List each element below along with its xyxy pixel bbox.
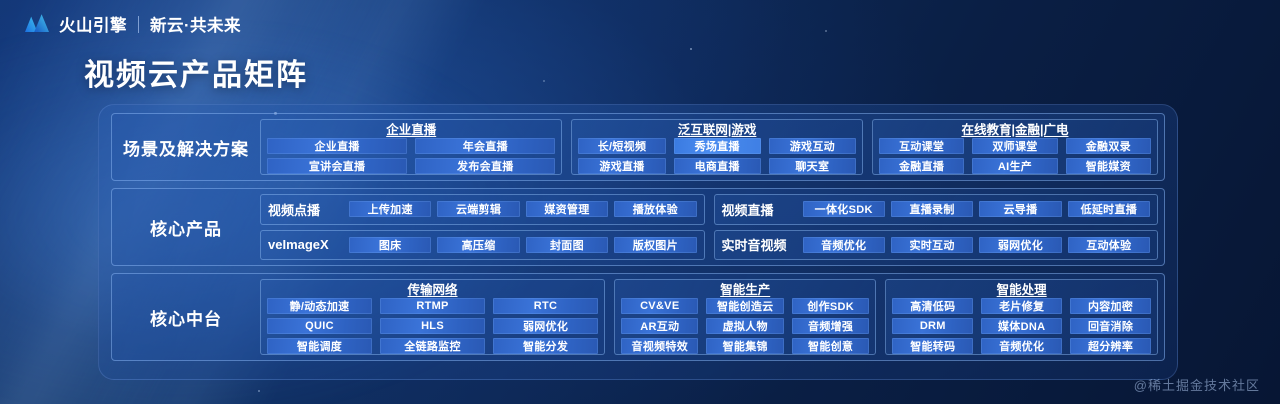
product-group: 企业直播企业直播年会直播宣讲会直播发布会直播 (260, 119, 562, 175)
product-group: 泛互联网|游戏长/短视频秀场直播游戏互动游戏直播电商直播聊天室 (571, 119, 863, 175)
brand-slogan: 新云·共未来 (150, 12, 241, 36)
product-chip[interactable]: 老片修复 (981, 298, 1062, 314)
chip-grid: 高清低码老片修复内容加密DRM媒体DNA回音消除智能转码音频优化超分辨率 (892, 298, 1151, 354)
product-chip[interactable]: 企业直播 (267, 138, 407, 154)
group-title: 泛互联网|游戏 (578, 122, 856, 138)
product-chip[interactable]: 高清低码 (892, 298, 973, 314)
product-chip[interactable]: 智能调度 (267, 338, 372, 354)
product-chip[interactable]: 弱网优化 (979, 237, 1061, 253)
star-particle (258, 390, 260, 392)
product-chip[interactable]: 上传加速 (349, 201, 431, 217)
product-chip[interactable]: 超分辨率 (1070, 338, 1151, 354)
product-line: 实时音视频音频优化实时互动弱网优化互动体验 (714, 230, 1159, 261)
product-matrix-panel: 场景及解决方案企业直播企业直播年会直播宣讲会直播发布会直播泛互联网|游戏长/短视… (98, 104, 1178, 380)
product-chip[interactable]: 游戏直播 (578, 158, 665, 174)
group-title: 传输网络 (267, 282, 598, 298)
chip-grid: 图床高压缩封面图版权图片 (349, 237, 697, 253)
product-chip[interactable]: 音频优化 (981, 338, 1062, 354)
product-name: 视频点播 (268, 200, 342, 219)
product-chip[interactable]: 长/短视频 (578, 138, 665, 154)
product-chip[interactable]: 游戏互动 (769, 138, 856, 154)
product-chip[interactable]: 低延时直播 (1068, 201, 1150, 217)
product-chip[interactable]: 互动课堂 (879, 138, 964, 154)
chip-grid: 静/动态加速RTMPRTCQUICHLS弱网优化智能调度全链路监控智能分发 (267, 298, 598, 354)
product-chip[interactable]: RTMP (380, 298, 485, 314)
row-content: 企业直播企业直播年会直播宣讲会直播发布会直播泛互联网|游戏长/短视频秀场直播游戏… (260, 119, 1158, 175)
product-chip[interactable]: 云导播 (979, 201, 1061, 217)
product-chip[interactable]: 静/动态加速 (267, 298, 372, 314)
product-chip[interactable]: 封面图 (526, 237, 608, 253)
product-chip[interactable]: 秀场直播 (674, 138, 761, 154)
group-title: 在线教育|金融|广电 (879, 122, 1151, 138)
product-chip[interactable]: CV&VE (621, 298, 698, 314)
product-chip[interactable]: DRM (892, 318, 973, 334)
product-chip[interactable]: 内容加密 (1070, 298, 1151, 314)
chip-grid: 互动课堂双师课堂金融双录金融直播AI生产智能媒资 (879, 138, 1151, 174)
chip-grid: 上传加速云端剪辑媒资管理播放体验 (349, 201, 697, 217)
product-chip[interactable]: 一体化SDK (803, 201, 885, 217)
row-label: 场景及解决方案 (118, 119, 254, 175)
product-chip[interactable]: 互动体验 (1068, 237, 1150, 253)
volcano-peak-icon (24, 13, 50, 35)
brand-name: 火山引擎 (59, 12, 127, 36)
product-chip[interactable]: 弱网优化 (493, 318, 598, 334)
row-label: 核心中台 (118, 279, 254, 355)
product-name: 视频直播 (722, 200, 796, 219)
star-particle (690, 48, 692, 50)
product-chip[interactable]: 虚拟人物 (706, 318, 783, 334)
group-title: 企业直播 (267, 122, 555, 138)
product-group: 智能处理高清低码老片修复内容加密DRM媒体DNA回音消除智能转码音频优化超分辨率 (885, 279, 1158, 355)
product-chip[interactable]: QUIC (267, 318, 372, 334)
product-chip[interactable]: 高压缩 (437, 237, 519, 253)
group-title: 智能生产 (621, 282, 869, 298)
product-chip[interactable]: 发布会直播 (415, 158, 555, 174)
product-chip[interactable]: 双师课堂 (972, 138, 1057, 154)
product-column: 视频点播上传加速云端剪辑媒资管理播放体验veImageX图床高压缩封面图版权图片 (260, 194, 705, 260)
product-chip[interactable]: RTC (493, 298, 598, 314)
group-title: 智能处理 (892, 282, 1151, 298)
product-column: 视频直播一体化SDK直播录制云导播低延时直播实时音视频音频优化实时互动弱网优化互… (714, 194, 1159, 260)
product-chip[interactable]: 聊天室 (769, 158, 856, 174)
product-chip[interactable]: 媒体DNA (981, 318, 1062, 334)
product-line: veImageX图床高压缩封面图版权图片 (260, 230, 705, 261)
matrix-row: 核心产品视频点播上传加速云端剪辑媒资管理播放体验veImageX图床高压缩封面图… (111, 188, 1165, 266)
product-chip[interactable]: 年会直播 (415, 138, 555, 154)
row-label: 核心产品 (118, 194, 254, 260)
product-chip[interactable]: 云端剪辑 (437, 201, 519, 217)
product-chip[interactable]: 全链路监控 (380, 338, 485, 354)
row-content: 视频点播上传加速云端剪辑媒资管理播放体验veImageX图床高压缩封面图版权图片… (260, 194, 1158, 260)
product-chip[interactable]: 直播录制 (891, 201, 973, 217)
product-chip[interactable]: 智能分发 (493, 338, 598, 354)
product-group: 在线教育|金融|广电互动课堂双师课堂金融双录金融直播AI生产智能媒资 (872, 119, 1158, 175)
product-chip[interactable]: 金融直播 (879, 158, 964, 174)
star-particle (825, 30, 827, 32)
product-chip[interactable]: 媒资管理 (526, 201, 608, 217)
chip-grid: 企业直播年会直播宣讲会直播发布会直播 (267, 138, 555, 174)
brand-logo-bar[interactable]: 火山引擎 新云·共未来 (24, 12, 241, 36)
chip-grid: CV&VE智能创造云创作SDKAR互动虚拟人物音频增强音视频特效智能集锦智能创意 (621, 298, 869, 354)
product-chip[interactable]: 电商直播 (674, 158, 761, 174)
product-line: 视频直播一体化SDK直播录制云导播低延时直播 (714, 194, 1159, 225)
product-chip[interactable]: AI生产 (972, 158, 1057, 174)
row-content: 传输网络静/动态加速RTMPRTCQUICHLS弱网优化智能调度全链路监控智能分… (260, 279, 1158, 355)
chip-grid: 一体化SDK直播录制云导播低延时直播 (803, 201, 1151, 217)
product-chip[interactable]: 宣讲会直播 (267, 158, 407, 174)
chip-grid: 长/短视频秀场直播游戏互动游戏直播电商直播聊天室 (578, 138, 856, 174)
product-name: 实时音视频 (722, 235, 796, 254)
chip-grid: 音频优化实时互动弱网优化互动体验 (803, 237, 1151, 253)
product-chip[interactable]: 音视频特效 (621, 338, 698, 354)
product-chip[interactable]: 智能媒资 (1066, 158, 1151, 174)
page-title: 视频云产品矩阵 (84, 50, 308, 94)
product-line: 视频点播上传加速云端剪辑媒资管理播放体验 (260, 194, 705, 225)
product-chip[interactable]: 创作SDK (792, 298, 869, 314)
product-chip[interactable]: 智能创造云 (706, 298, 783, 314)
matrix-row: 场景及解决方案企业直播企业直播年会直播宣讲会直播发布会直播泛互联网|游戏长/短视… (111, 113, 1165, 181)
product-chip[interactable]: 回音消除 (1070, 318, 1151, 334)
product-chip[interactable]: 音频增强 (792, 318, 869, 334)
product-chip[interactable]: 智能集锦 (706, 338, 783, 354)
product-group: 传输网络静/动态加速RTMPRTCQUICHLS弱网优化智能调度全链路监控智能分… (260, 279, 605, 355)
star-particle (543, 80, 545, 82)
product-chip[interactable]: 智能转码 (892, 338, 973, 354)
product-chip[interactable]: AR互动 (621, 318, 698, 334)
product-group: 智能生产CV&VE智能创造云创作SDKAR互动虚拟人物音频增强音视频特效智能集锦… (614, 279, 876, 355)
product-chip[interactable]: 播放体验 (614, 201, 696, 217)
product-chip[interactable]: 智能创意 (792, 338, 869, 354)
product-chip[interactable]: 版权图片 (614, 237, 696, 253)
product-chip[interactable]: 金融双录 (1066, 138, 1151, 154)
product-chip[interactable]: 图床 (349, 237, 431, 253)
logo-divider (138, 16, 139, 33)
product-chip[interactable]: HLS (380, 318, 485, 334)
watermark: @稀土掘金技术社区 (1134, 375, 1260, 394)
matrix-row: 核心中台传输网络静/动态加速RTMPRTCQUICHLS弱网优化智能调度全链路监… (111, 273, 1165, 361)
product-name: veImageX (268, 237, 342, 252)
product-chip[interactable]: 实时互动 (891, 237, 973, 253)
product-chip[interactable]: 音频优化 (803, 237, 885, 253)
